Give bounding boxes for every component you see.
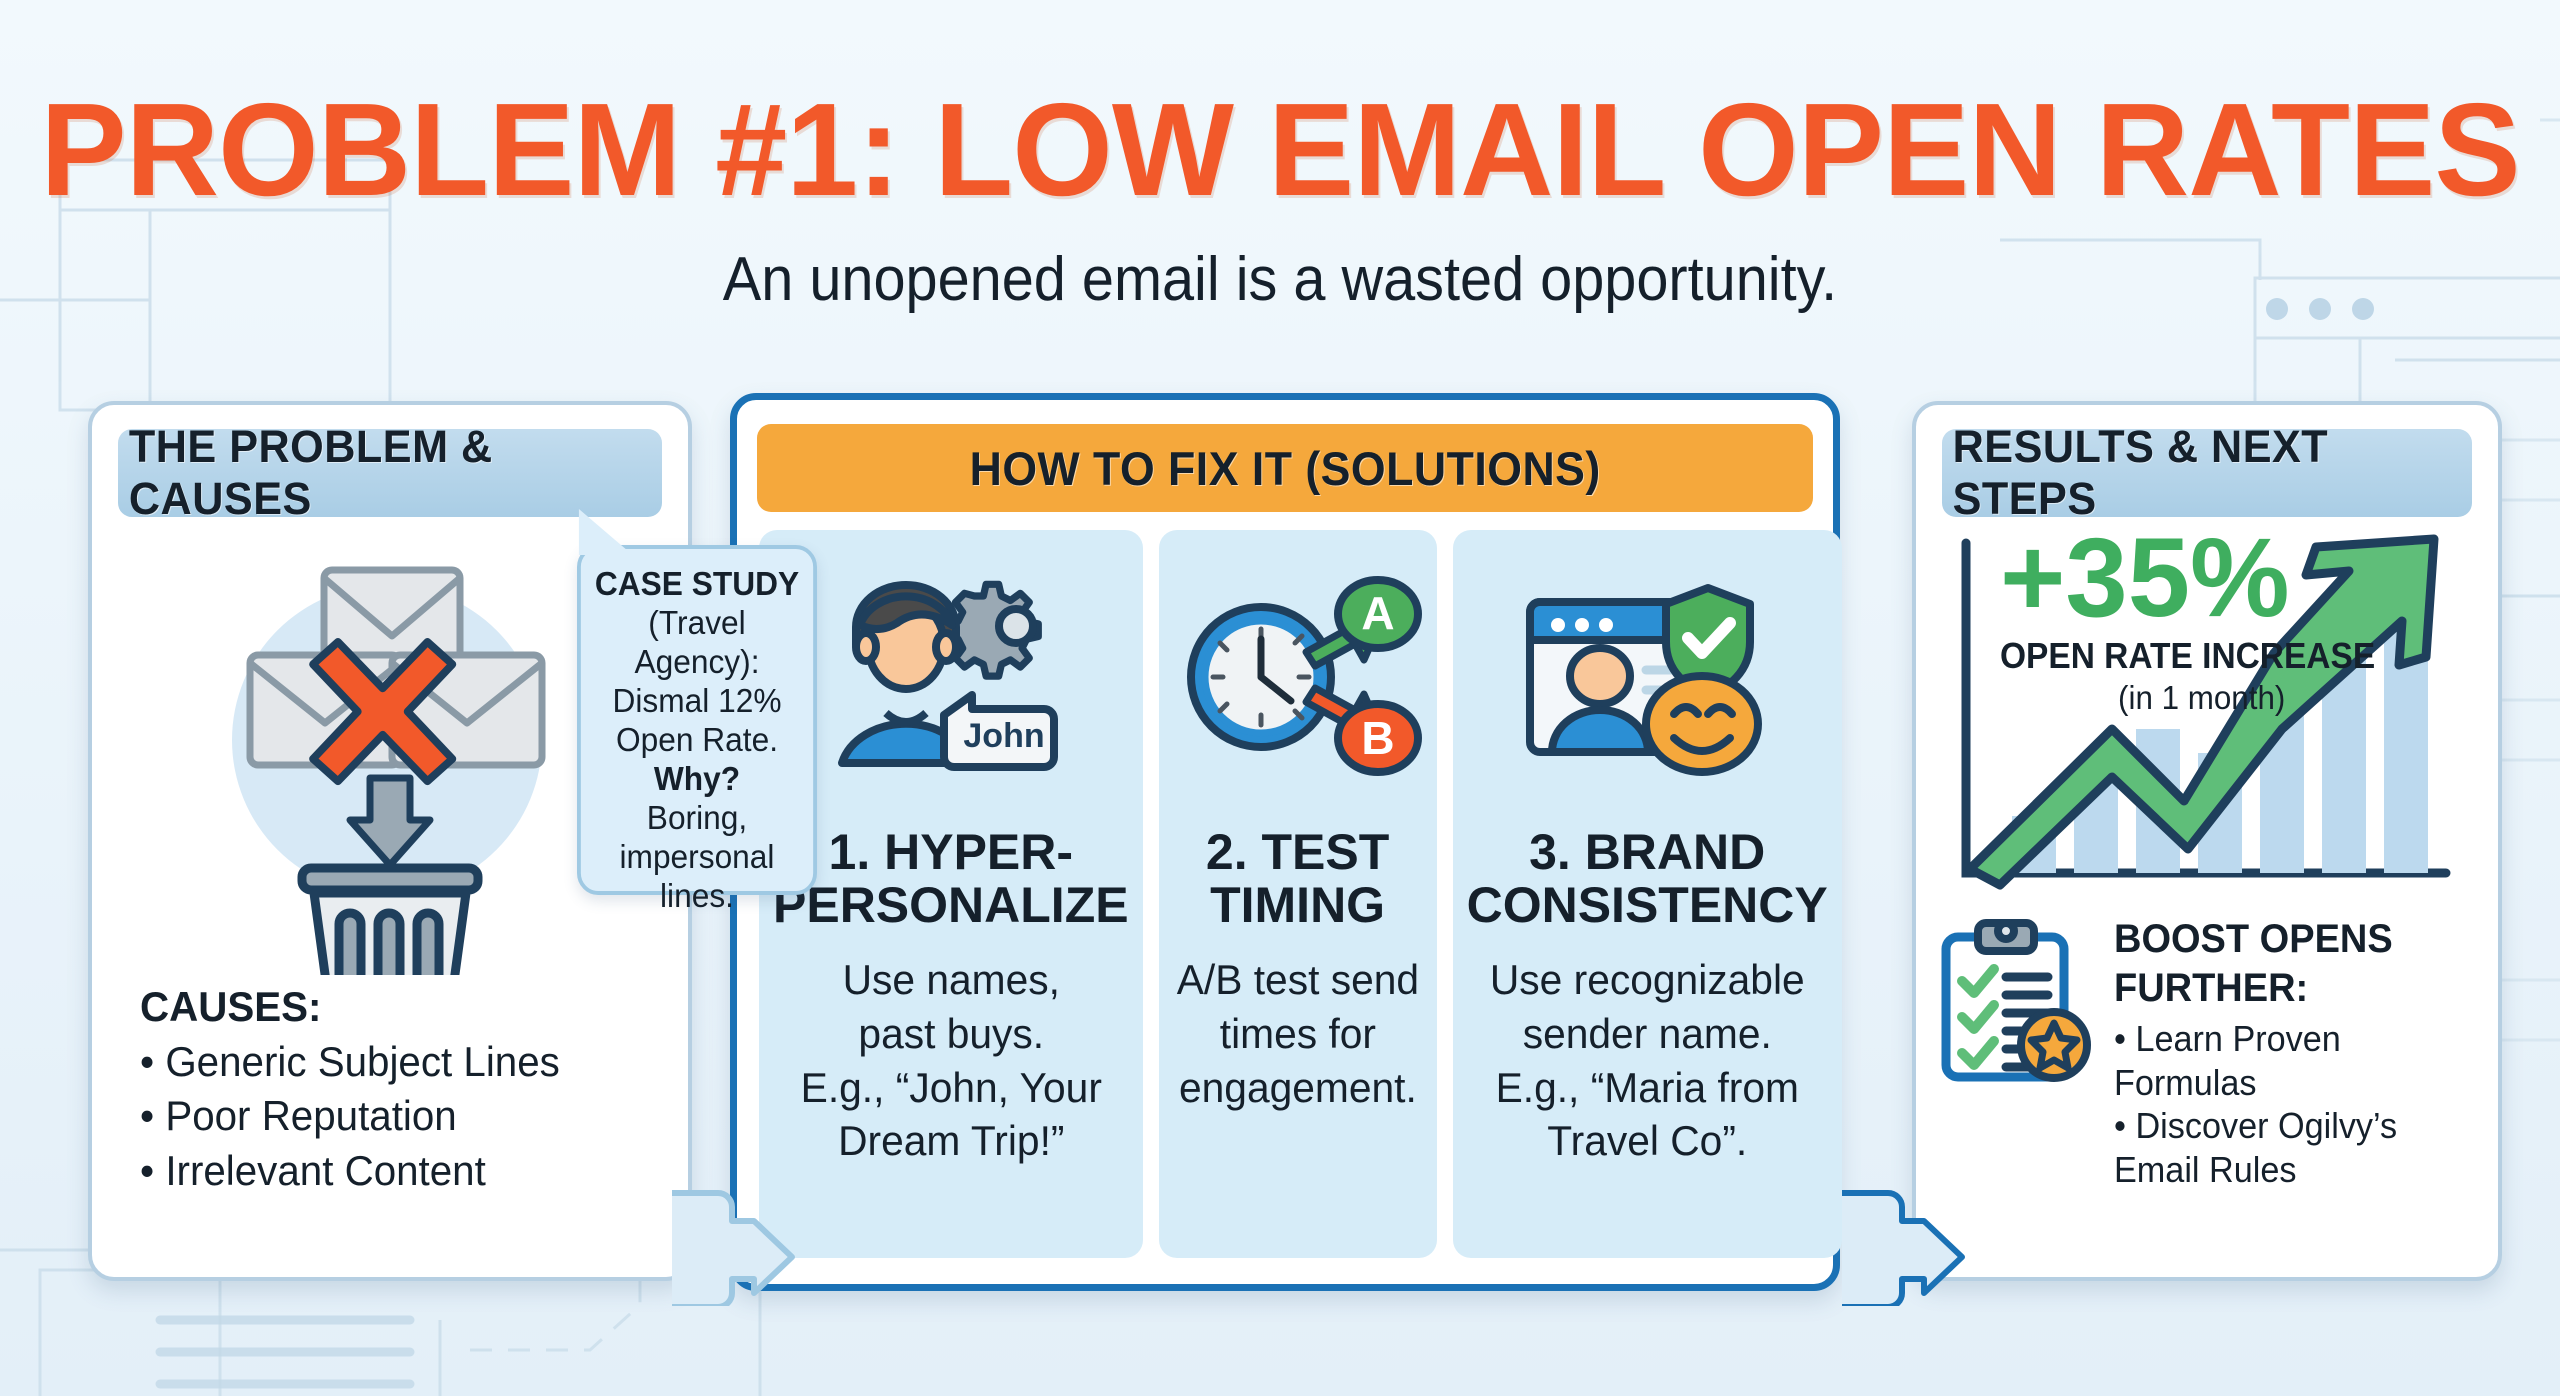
causes-heading: CAUSES:: [140, 980, 647, 1035]
callout-line-4: Boring,: [590, 799, 803, 838]
page-header: PROBLEM #1: LOW EMAIL OPEN RATES An unop…: [0, 0, 2560, 315]
callout-tail: [579, 509, 633, 555]
boost-text: BOOST OPENS FURTHER: Learn Proven Formul…: [2114, 915, 2466, 1192]
cause-item: Irrelevant Content: [140, 1144, 647, 1199]
card-3-body: Use recognizable sender name. E.g., “Mar…: [1490, 953, 1805, 1168]
boost-block: BOOST OPENS FURTHER: Learn Proven Formul…: [1936, 915, 2484, 1192]
solution-card-3[interactable]: 3. BRAND CONSISTENCY Use recognizable se…: [1453, 530, 1842, 1258]
arrow-connector-2: [1838, 1171, 1968, 1306]
panel-header-results: RESULTS & NEXT STEPS: [1942, 429, 2472, 517]
case-study-callout: CASE STUDY (Travel Agency): Dismal 12% O…: [577, 545, 817, 895]
solution-cards: John 1. HYPER- PERSONALIZE Use names, pa…: [759, 530, 1811, 1258]
person-gear-name-tag-icon: John: [826, 567, 1076, 787]
card-1-body: Use names, past buys. E.g., “John, Your …: [800, 953, 1101, 1168]
stat-value: +35%: [2000, 525, 2403, 631]
name-tag-text: John: [963, 717, 1044, 755]
card-2-art: A B: [1173, 552, 1423, 802]
cause-item: Generic Subject Lines: [140, 1035, 647, 1090]
panel-header-problem-label: THE PROBLEM & CAUSES: [129, 421, 651, 525]
card-3-art: [1522, 552, 1772, 802]
card-2-title: 2. TEST TIMING: [1206, 826, 1389, 931]
boost-heading: BOOST OPENS FURTHER:: [2114, 915, 2466, 1013]
boost-item: Discover Ogilvy’s Email Rules: [2114, 1104, 2466, 1192]
results-chart: +35% OPEN RATE INCREASE (in 1 month): [1944, 533, 2464, 903]
page-subtitle: An unopened email is a wasted opportunit…: [90, 244, 2471, 315]
boost-list: Learn Proven Formulas Discover Ogilvy’s …: [2114, 1017, 2466, 1193]
boost-item: Learn Proven Formulas: [2114, 1017, 2466, 1105]
card-3-title: 3. BRAND CONSISTENCY: [1467, 826, 1828, 931]
envelopes-x-trash-icon: [182, 535, 612, 975]
panel-header-results-label: RESULTS & NEXT STEPS: [1953, 421, 2462, 525]
causes-list: Generic Subject Lines Poor Reputation Ir…: [140, 1035, 647, 1199]
panel-header-solutions: HOW TO FIX IT (SOLUTIONS): [757, 424, 1813, 512]
card-1-title: 1. HYPER- PERSONALIZE: [773, 826, 1129, 931]
card-1-art: John: [826, 552, 1076, 802]
callout-heading: CASE STUDY: [590, 565, 803, 604]
clock-ab-test-icon: A B: [1173, 572, 1423, 782]
solution-card-2[interactable]: A B 2. TEST TIMING A/B test send times f…: [1159, 530, 1437, 1258]
callout-line-2: Dismal 12%: [590, 682, 803, 721]
card-2-body: A/B test send times for engagement.: [1176, 953, 1418, 1114]
callout-why-label: Why?: [590, 760, 803, 799]
stat-block: +35% OPEN RATE INCREASE (in 1 month): [2000, 525, 2403, 717]
panel-header-problem: THE PROBLEM & CAUSES: [118, 429, 662, 517]
panels-row: THE PROBLEM & CAUSES: [0, 393, 2560, 1293]
clipboard-checklist-star-icon: [1936, 915, 2096, 1090]
label-b: B: [1361, 712, 1394, 764]
panel-header-solutions-label: HOW TO FIX IT (SOLUTIONS): [969, 441, 1600, 496]
arrow-connector-1: [668, 1171, 798, 1306]
label-a: A: [1361, 587, 1394, 639]
cause-item: Poor Reputation: [140, 1089, 647, 1144]
stat-label: OPEN RATE INCREASE: [2000, 635, 2375, 677]
callout-line-6: lines.: [590, 877, 803, 916]
panel-problem-causes: THE PROBLEM & CAUSES: [88, 401, 692, 1281]
panel-solutions: HOW TO FIX IT (SOLUTIONS): [730, 393, 1840, 1291]
callout-line-1: (Travel Agency):: [590, 604, 803, 682]
callout-line-5: impersonal: [590, 838, 803, 877]
panel-results-next-steps: RESULTS & NEXT STEPS: [1912, 401, 2502, 1281]
callout-line-3: Open Rate.: [590, 721, 803, 760]
causes-block: CAUSES: Generic Subject Lines Poor Reput…: [140, 980, 647, 1198]
stat-sublabel: (in 1 month): [2010, 679, 2393, 717]
browser-profile-shield-smiley-icon: [1522, 572, 1772, 782]
page-title: PROBLEM #1: LOW EMAIL OPEN RATES: [26, 84, 2535, 216]
